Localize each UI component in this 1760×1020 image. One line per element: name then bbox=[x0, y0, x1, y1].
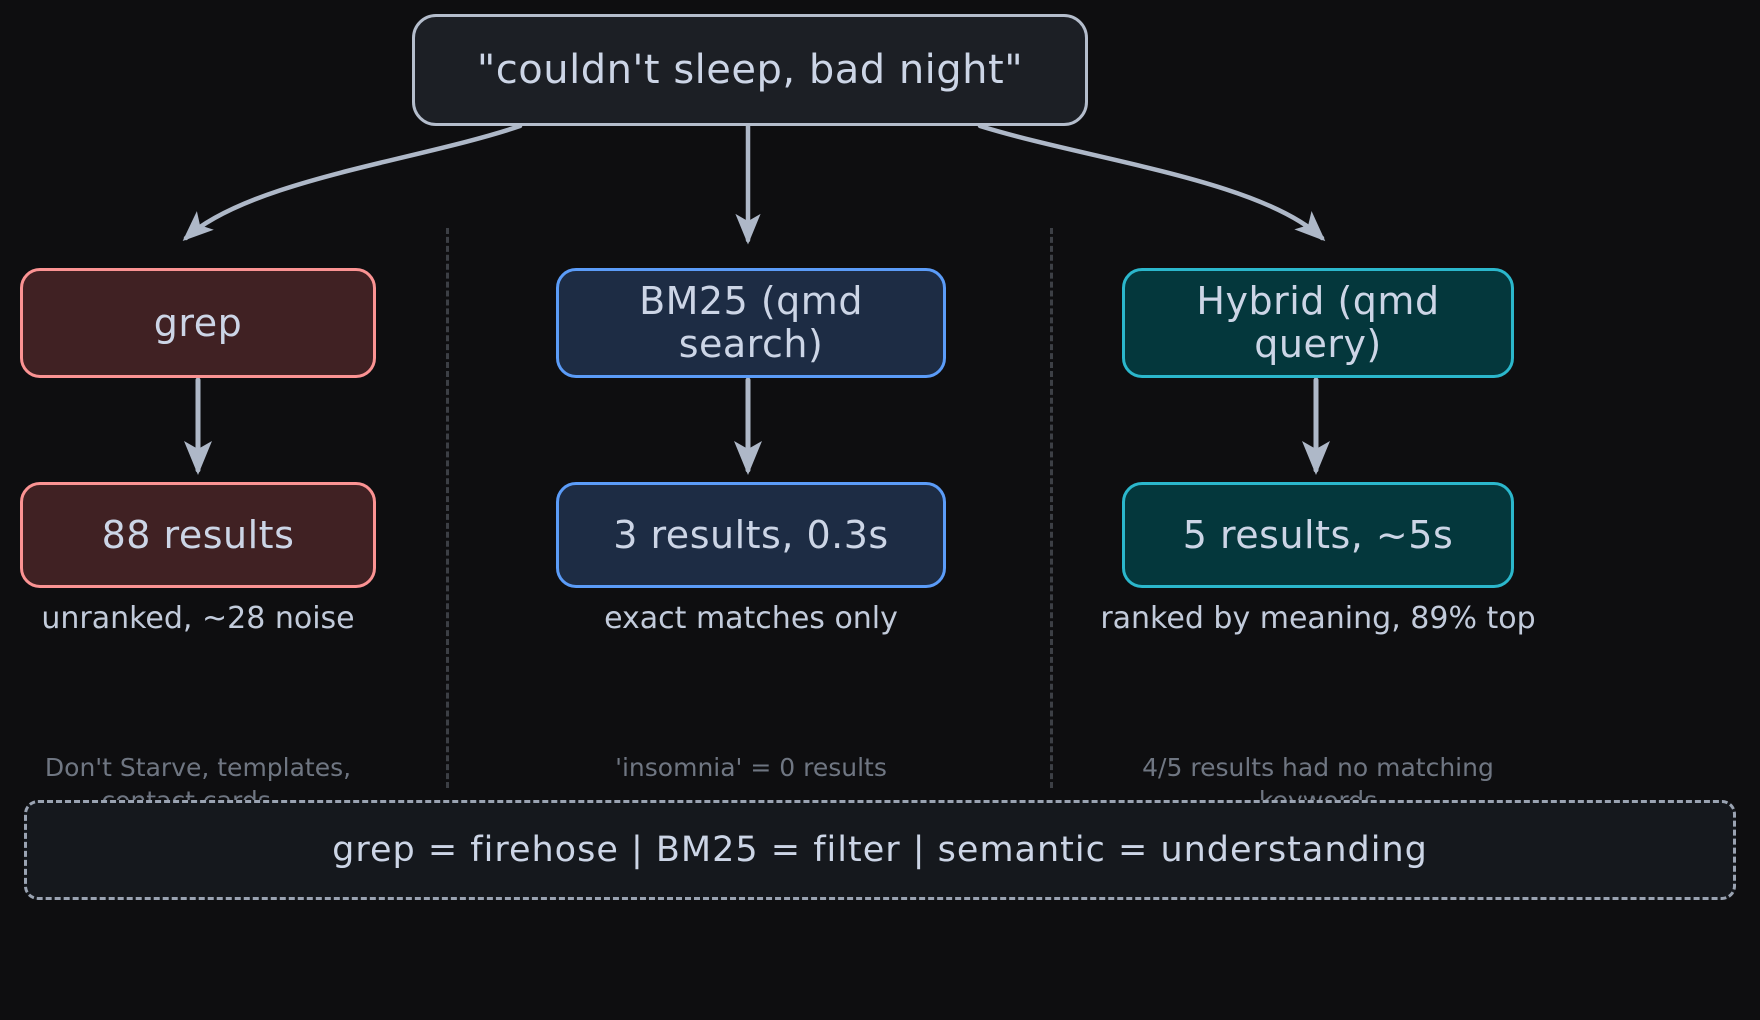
result-node-bm25-label: 3 results, 0.3s bbox=[559, 514, 943, 557]
method-node-hybrid-label: Hybrid (qmd query) bbox=[1125, 280, 1511, 365]
caption-bm25: exact matches only bbox=[556, 600, 946, 638]
subcaption-bm25: 'insomnia' = 0 results bbox=[546, 752, 956, 785]
result-node-bm25[interactable]: 3 results, 0.3s bbox=[556, 482, 946, 588]
method-node-bm25[interactable]: BM25 (qmd search) bbox=[556, 268, 946, 378]
diagram-canvas: "couldn't sleep, bad night" grep 88 resu… bbox=[0, 0, 1760, 1020]
result-node-hybrid-label: 5 results, ~5s bbox=[1125, 514, 1511, 557]
query-node-label: "couldn't sleep, bad night" bbox=[415, 48, 1085, 93]
edge-query-to-grep bbox=[186, 126, 520, 238]
column-divider-left bbox=[446, 228, 449, 788]
method-node-grep[interactable]: grep bbox=[20, 268, 376, 378]
query-node[interactable]: "couldn't sleep, bad night" bbox=[412, 14, 1088, 126]
method-node-bm25-label: BM25 (qmd search) bbox=[559, 280, 943, 365]
result-node-grep[interactable]: 88 results bbox=[20, 482, 376, 588]
edge-query-to-hybrid bbox=[980, 126, 1322, 238]
result-node-grep-label: 88 results bbox=[23, 514, 373, 557]
summary-banner-label: grep = firehose | BM25 = filter | semant… bbox=[312, 830, 1448, 870]
summary-banner[interactable]: grep = firehose | BM25 = filter | semant… bbox=[24, 800, 1736, 900]
method-node-grep-label: grep bbox=[23, 302, 373, 345]
result-node-hybrid[interactable]: 5 results, ~5s bbox=[1122, 482, 1514, 588]
caption-hybrid: ranked by meaning, 89% top bbox=[1092, 600, 1544, 638]
method-node-hybrid[interactable]: Hybrid (qmd query) bbox=[1122, 268, 1514, 378]
column-divider-right bbox=[1050, 228, 1053, 788]
caption-grep: unranked, ~28 noise bbox=[20, 600, 376, 638]
